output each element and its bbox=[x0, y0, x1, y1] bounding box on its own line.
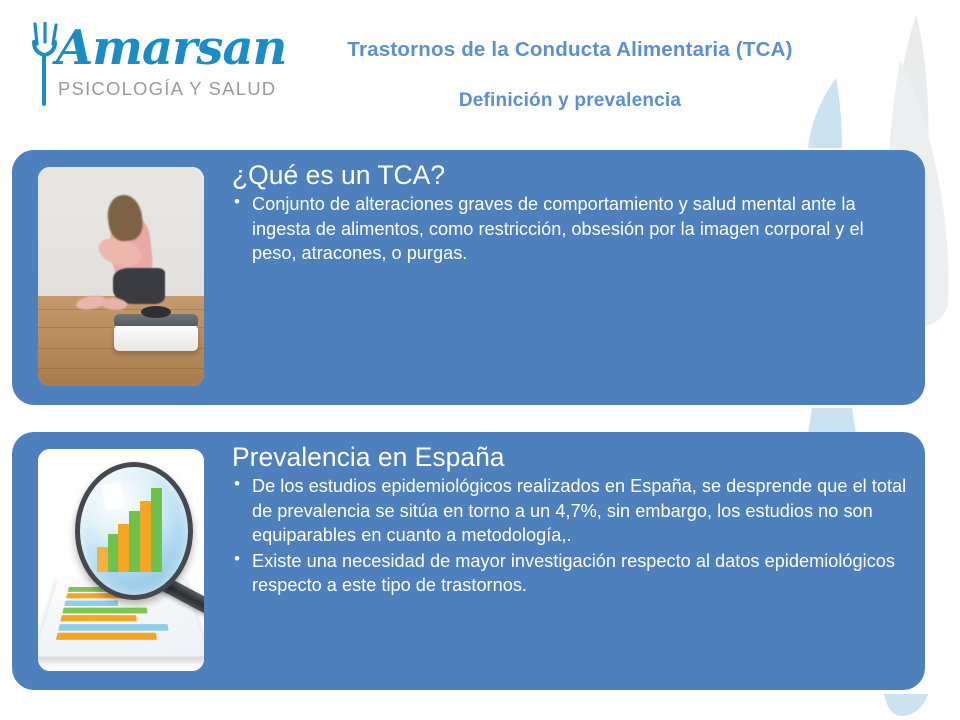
card-2-title: Prevalencia en España bbox=[230, 442, 911, 472]
list-item: Conjunto de alteraciones graves de compo… bbox=[230, 192, 911, 265]
card-2-body: Prevalencia en España De los estudios ep… bbox=[230, 442, 911, 599]
card-1-bullet-list: Conjunto de alteraciones graves de compo… bbox=[230, 192, 911, 265]
petal-blue-bottom-icon bbox=[880, 694, 932, 718]
content-card-definicion: ¿Qué es un TCA? Conjunto de alteraciones… bbox=[12, 150, 925, 405]
slide-canvas: Amarsan PSICOLOGÍA Y SALUD Trastornos de… bbox=[0, 0, 960, 720]
woman-with-scale-photo bbox=[38, 167, 204, 386]
logo: Amarsan PSICOLOGÍA Y SALUD bbox=[16, 22, 238, 108]
photo-lens-glare bbox=[101, 481, 126, 511]
content-card-prevalencia: Prevalencia en España De los estudios ep… bbox=[12, 432, 925, 690]
photo-magnifier-lens bbox=[75, 462, 193, 600]
photo-scale-base bbox=[114, 325, 198, 351]
card-2-bullet-list: De los estudios epidemiológicos realizad… bbox=[230, 474, 911, 597]
list-item: De los estudios epidemiológicos realizad… bbox=[230, 474, 911, 547]
card-1-body: ¿Qué es un TCA? Conjunto de alteraciones… bbox=[230, 160, 911, 267]
photo-scale-dial bbox=[141, 306, 171, 318]
card-1-title: ¿Qué es un TCA? bbox=[230, 160, 911, 190]
list-item: Existe una necesidad de mayor investigac… bbox=[230, 549, 911, 597]
petal-blue-top-icon bbox=[806, 78, 852, 150]
page-subtitle: Definición y prevalencia bbox=[240, 90, 900, 112]
page-title: Trastornos de la Conducta Alimentaria (T… bbox=[240, 38, 900, 62]
magnifier-chart-photo bbox=[38, 449, 204, 671]
